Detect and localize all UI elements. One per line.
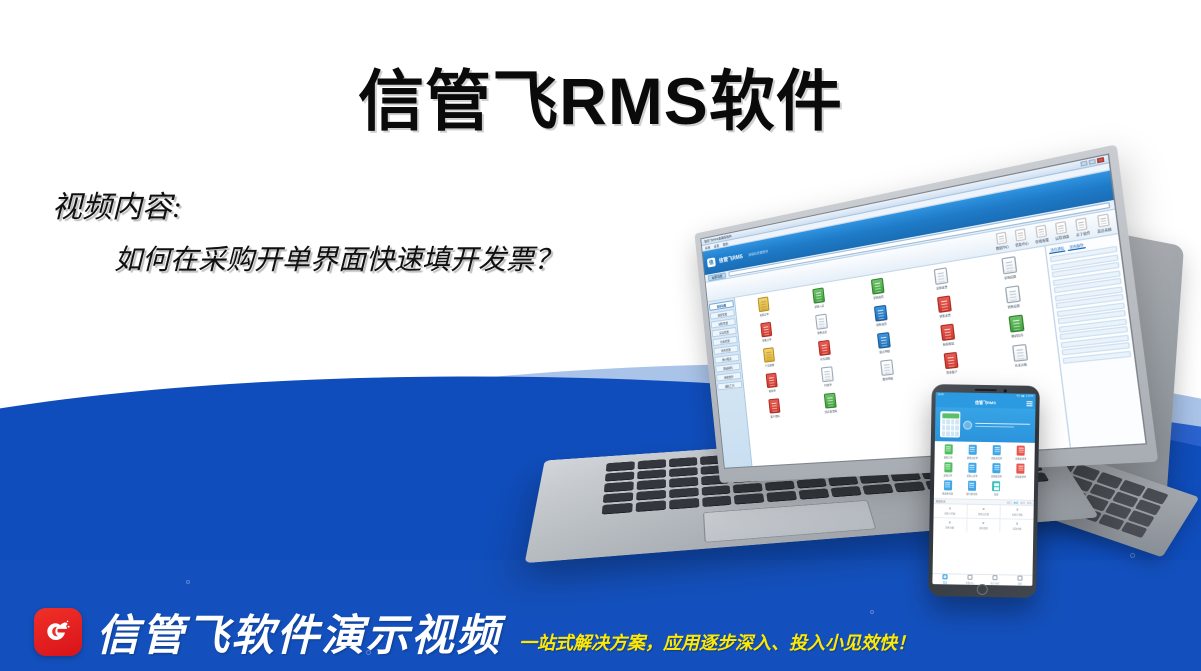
function-icon-label: 盘点单据 <box>879 349 890 355</box>
nav-label: 单据中心 <box>965 581 974 585</box>
document-icon <box>1001 256 1017 274</box>
hamburger-menu-icon[interactable] <box>1026 401 1032 406</box>
function-icon-item[interactable]: 期初库存 <box>982 311 1051 342</box>
phone-screen: 10:45 4G ▮▮ 100% 信管飞RMS 销售订单 <box>932 392 1035 586</box>
stat-label: 销售金额 <box>945 525 954 529</box>
right-tab-common-actions[interactable]: 常用操作 <box>1068 242 1086 251</box>
xinguanfei-bird-logo-icon <box>34 608 82 656</box>
document-icon <box>757 297 769 313</box>
right-tab-messages[interactable]: 消息通知 <box>1049 245 1066 254</box>
front-laptop-lid: 信管飞RMS进销存软件 系统 设置 帮助 <box>694 144 1158 483</box>
device-photo-group: 信管飞RMS进销存软件 系统 设置 帮助 <box>0 0 1201 671</box>
status-version: 版本 9.0 <box>757 467 766 469</box>
document-icon <box>812 287 825 303</box>
document-icon <box>1055 221 1067 235</box>
function-icon-label: 产品管理 <box>765 363 775 368</box>
nav-item-profile[interactable]: 我的 <box>1007 575 1032 585</box>
phone-camera <box>1004 389 1007 392</box>
document-icon <box>880 359 894 376</box>
function-icon-label: 销售出库 <box>817 330 827 336</box>
document-icon <box>876 332 890 349</box>
desktop-app-window: 信管飞RMS进销存软件 系统 设置 帮助 <box>701 155 1145 468</box>
function-icon-label: 仓库调拨 <box>820 356 830 361</box>
function-icon-item[interactable]: 盘点单据 <box>854 329 914 357</box>
nav-label: 首页 <box>943 580 947 584</box>
front-laptop-screen: 信管飞RMS进销存软件 系统 设置 帮助 <box>700 153 1147 468</box>
phone-section-title: 经营状况 <box>936 499 946 503</box>
sidebar-item-maintenance[interactable]: 系统维护 <box>716 372 741 382</box>
function-icon-item[interactable]: 采购订单 <box>738 293 790 320</box>
function-icon-item[interactable]: 产品管理 <box>743 345 795 371</box>
function-icon-item[interactable]: 销售退货 <box>851 302 910 331</box>
phone-period-filters[interactable]: 本日 本周 本月 本年 <box>1007 500 1032 504</box>
banner-text <box>975 422 1030 428</box>
document-icon <box>1015 228 1027 241</box>
phone-grid-label: 全部 <box>994 492 998 496</box>
document-icon <box>1097 213 1110 227</box>
document-icon <box>1004 285 1020 303</box>
function-icon-label: 采购发票 <box>936 284 948 290</box>
toolbar-button-remote-assist[interactable]: 远程协助 <box>1053 221 1069 241</box>
document-icon <box>944 444 952 454</box>
minimize-button[interactable] <box>1080 160 1087 166</box>
stat-value: 0 <box>1016 508 1018 512</box>
function-icon-label: 往来对账 <box>1014 362 1027 368</box>
phone-grid-item[interactable]: 全部 <box>984 481 1008 496</box>
document-icon <box>944 462 952 472</box>
function-icon-item[interactable]: 销售发票 <box>913 292 977 322</box>
phone-grid-item[interactable]: 销售订单 <box>937 444 961 459</box>
right-panel-list[interactable] <box>1050 246 1131 364</box>
nav-label: 我的 <box>1018 582 1022 586</box>
app-brand-name: 信管飞RMS <box>719 252 744 263</box>
function-icon-label: 采购订单 <box>759 312 769 317</box>
document-icon <box>768 398 780 413</box>
filter-month[interactable]: 本月 <box>1020 501 1025 505</box>
stat-label: 回款金额 <box>1013 527 1022 531</box>
stat-value: 0 <box>949 520 951 524</box>
toolbar-label: 关于软件 <box>1076 230 1091 237</box>
function-icon-item[interactable]: 采购退货 <box>848 274 907 303</box>
function-icon-label: 采购结算 <box>1004 274 1017 280</box>
stat-cell: 0回款金额 <box>1001 519 1034 533</box>
function-icon-item[interactable]: 采购结算 <box>975 252 1044 284</box>
document-icon <box>873 305 887 322</box>
stat-value: 0 <box>1016 522 1018 526</box>
phone-app-title: 信管飞RMS <box>975 400 996 406</box>
phone-stats-grid: 0销售订单数 0销售出库数 0采购订单数 0销售金额 0采购金额 0回款金额 <box>933 504 1033 533</box>
phone-grid-label: 采购退货单 <box>991 474 1002 478</box>
function-icon-label: 费用单据 <box>882 376 893 381</box>
filter-year[interactable]: 本年 <box>1027 501 1032 505</box>
nav-label: 统计分析 <box>990 581 999 585</box>
menu-item-settings[interactable]: 设置 <box>714 243 720 248</box>
filter-week[interactable]: 本周 <box>1013 501 1018 505</box>
phone-grid-item[interactable]: 销售发票单 <box>1009 445 1033 460</box>
phone-grid-label: 采购发票单 <box>1015 475 1026 479</box>
app-logo-icon: 信 <box>707 257 716 267</box>
stat-label: 采购订单数 <box>1012 512 1023 516</box>
stat-cell: 0销售出库数 <box>967 505 1000 519</box>
function-icon-item[interactable]: 仓库调拨 <box>797 337 852 364</box>
function-icon-item[interactable]: 客户资料 <box>748 396 800 420</box>
document-icon <box>968 481 976 491</box>
function-icon-item[interactable]: 销售出库 <box>794 311 849 338</box>
list-icon <box>967 575 972 580</box>
document-icon <box>1017 464 1025 474</box>
function-icon-label: 付款单 <box>824 382 832 387</box>
document-icon <box>1008 315 1024 333</box>
document-icon <box>1011 344 1027 362</box>
user-icon <box>1017 576 1022 581</box>
filter-day[interactable]: 本日 <box>1007 500 1012 504</box>
function-icon-label: 采购入库 <box>814 303 824 309</box>
document-icon <box>992 463 1000 473</box>
nav-item-analytics[interactable]: 统计分析 <box>982 575 1007 585</box>
document-icon <box>943 352 958 369</box>
banner-circle-icon <box>963 420 972 429</box>
close-button[interactable] <box>1097 157 1105 163</box>
phone-grid-label: 销售出库单 <box>967 456 978 460</box>
function-icon-item[interactable]: 收款单 <box>746 370 798 395</box>
stat-cell: 0采购订单数 <box>1001 505 1034 519</box>
function-icon-label: 供应商资料 <box>824 409 837 414</box>
document-icon <box>993 445 1001 455</box>
document-icon <box>823 393 836 409</box>
document-icon <box>933 267 948 285</box>
toolbar-label: 在线客服 <box>1035 237 1049 244</box>
phone-grid-label: 银行收付款 <box>966 492 977 496</box>
document-icon <box>760 322 772 338</box>
document-icon <box>944 480 952 490</box>
function-icon-label: 销售订单 <box>762 337 772 342</box>
function-icon-label: 资金账户 <box>946 369 958 375</box>
stat-cell: 0采购金额 <box>967 519 1000 533</box>
document-icon <box>936 295 951 313</box>
function-icon-label: 销售结算 <box>1007 303 1020 309</box>
function-icon-label: 销售发票 <box>939 312 951 318</box>
sidebar-item-tools[interactable]: 辅助工具 <box>717 381 742 391</box>
chart-icon <box>992 575 997 580</box>
nav-item-documents[interactable]: 单据中心 <box>957 575 982 585</box>
stat-cell: 0销售订单数 <box>934 504 967 518</box>
banner-tagline: 一站式解决方案，应用逐步深入、投入小见效快！ <box>519 629 915 655</box>
phone-app-header: 信管飞RMS <box>935 397 1035 409</box>
maximize-button[interactable] <box>1088 159 1096 165</box>
grid-apps-icon <box>992 481 1000 491</box>
document-icon <box>765 373 777 388</box>
phone-function-grid[interactable]: 销售订单 销售出库单 销售退货单 销售发票单 采购订单 采购入库单 采购退货单 … <box>934 441 1035 500</box>
document-icon <box>870 278 884 295</box>
phone-grid-item[interactable]: 销售出库单 <box>961 445 985 460</box>
phone-grid-item[interactable]: 银行收付款 <box>960 481 984 496</box>
toolbar-label: 数据中心 <box>996 244 1010 251</box>
function-icon-item[interactable]: 资金账户 <box>919 349 983 377</box>
phone-promo-banner[interactable] <box>935 407 1036 443</box>
phone-grid-item[interactable]: 销售退货单 <box>985 445 1009 460</box>
document-icon <box>1035 225 1047 239</box>
app-brand-subtitle: 进销存管理软件 <box>748 249 768 257</box>
document-icon <box>762 347 774 363</box>
phone-grid-label: 销售退货单 <box>991 456 1002 460</box>
function-icon-item[interactable]: 供应商资料 <box>803 391 859 416</box>
function-icon-item[interactable]: 销售结算 <box>979 281 1048 312</box>
front-laptop-trackpad <box>703 500 876 543</box>
stat-value: 0 <box>949 506 951 510</box>
status-current-user: 当前用户：管理员 <box>735 468 755 469</box>
toolbar-label: 远程协助 <box>1055 234 1069 241</box>
toolbar-label: 退出系统 <box>1097 227 1112 234</box>
smartphone: 10:45 4G ▮▮ 100% 信管飞RMS 销售订单 <box>928 384 1040 598</box>
bottom-banner: 信管飞软件演示视频 一站式解决方案，应用逐步深入、投入小见效快！ <box>0 593 1201 671</box>
document-icon <box>820 366 833 382</box>
stat-label: 销售订单数 <box>944 511 955 515</box>
function-icon-item[interactable]: 采购发票 <box>910 263 974 294</box>
phone-status-indicators: 4G ▮▮ 100% <box>1016 395 1033 398</box>
banner-phone-illustration-icon <box>940 411 960 437</box>
document-icon <box>969 445 977 455</box>
banner-title: 信管飞软件演示视频 <box>96 601 501 663</box>
function-icon-item[interactable]: 采购入库 <box>791 284 846 312</box>
phone-grid-label: 采购入库单 <box>967 474 978 478</box>
stat-value: 0 <box>983 507 985 511</box>
toolbar-button-about[interactable]: 关于软件 <box>1074 217 1091 238</box>
phone-grid-label: 采购订单 <box>943 473 952 477</box>
function-icon-label: 报损报溢 <box>943 341 955 347</box>
phone-grid-item[interactable]: 采购入库单 <box>960 463 984 478</box>
function-icon-label: 客户资料 <box>770 414 780 419</box>
phone-grid-item[interactable]: 采购退货单 <box>985 463 1009 478</box>
phone-grid-item[interactable]: 采购发票单 <box>1009 463 1033 478</box>
toolbar-button-online-service[interactable]: 在线客服 <box>1033 224 1049 244</box>
stat-value: 0 <box>983 521 985 525</box>
phone-grid-item[interactable]: 现金收付款 <box>936 480 960 495</box>
nav-item-home[interactable]: 首页 <box>932 574 957 584</box>
menu-item-system[interactable]: 系统 <box>705 245 711 250</box>
phone-grid-label: 现金收付款 <box>942 491 953 495</box>
document-icon <box>1017 446 1025 456</box>
document-icon <box>1076 217 1088 231</box>
phone-grid-label: 销售发票单 <box>1015 457 1026 461</box>
function-icon-item[interactable]: 费用单据 <box>857 357 917 384</box>
phone-clock: 10:45 <box>938 393 944 396</box>
menu-item-help[interactable]: 帮助 <box>723 241 729 246</box>
document-icon <box>996 232 1007 245</box>
phone-grid-item[interactable]: 采购订单 <box>936 462 960 477</box>
home-icon <box>942 574 947 579</box>
toolbar-button-help-center[interactable]: 帮助中心 <box>1014 228 1029 248</box>
toolbar-label: 帮助中心 <box>1015 241 1029 248</box>
document-icon <box>940 324 955 341</box>
phone-speaker <box>975 389 997 391</box>
toolbar-button-exit[interactable]: 退出系统 <box>1095 213 1112 234</box>
stat-label: 采购金额 <box>979 526 988 530</box>
toolbar-button-data-center[interactable]: 数据中心 <box>994 231 1009 251</box>
function-icon-item[interactable]: 付款单 <box>800 364 856 390</box>
function-icon-label: 期初库存 <box>1011 332 1024 338</box>
slide-canvas: 信管飞RMS软件 视频内容: 如何在采购开单界面快速填开发票？ <box>0 0 1201 671</box>
function-icon-item[interactable]: 往来对账 <box>986 341 1055 371</box>
function-icon-label: 销售退货 <box>876 321 887 327</box>
stat-cell: 0销售金额 <box>933 518 966 532</box>
phone-grid-label: 销售订单 <box>944 455 953 459</box>
function-icon-label: 收款单 <box>769 388 776 393</box>
function-icon-label: 采购退货 <box>873 294 884 300</box>
stat-label: 销售出库数 <box>978 512 989 516</box>
function-icon-item[interactable]: 报损报溢 <box>916 320 980 349</box>
function-icon-item[interactable]: 销售订单 <box>741 319 793 345</box>
document-icon <box>817 340 830 356</box>
document-icon <box>815 314 828 330</box>
document-icon <box>968 463 976 473</box>
